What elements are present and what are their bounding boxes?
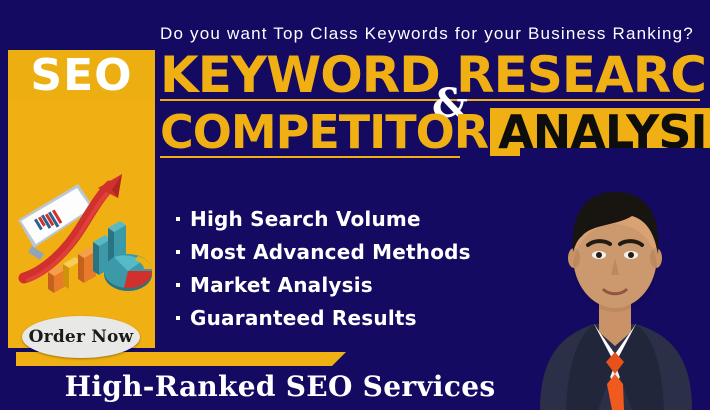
bullet-dot-icon — [176, 316, 180, 320]
list-item: Guaranteed Results — [176, 301, 506, 334]
list-item: Market Analysis — [176, 268, 506, 301]
bullet-dot-icon — [176, 250, 180, 254]
seo-tag-label: SEO — [8, 50, 155, 101]
headline-divider-rule — [160, 99, 700, 101]
feature-label: Guaranteed Results — [190, 306, 417, 330]
feature-list: High Search Volume Most Advanced Methods… — [176, 202, 506, 334]
headline-underline-rule — [160, 156, 460, 158]
list-item: Most Advanced Methods — [176, 235, 506, 268]
feature-label: Market Analysis — [190, 273, 373, 297]
list-item: High Search Volume — [176, 202, 506, 235]
order-now-button[interactable]: Order Now — [22, 316, 140, 358]
feature-label: High Search Volume — [190, 207, 421, 231]
bullet-dot-icon — [176, 217, 180, 221]
order-now-label: Order Now — [29, 327, 134, 347]
tagline-text: Do you want Top Class Keywords for your … — [160, 22, 700, 46]
footer-title: High-Ranked SEO Services — [0, 366, 560, 406]
seo-service-banner: SEO Do you want Top Class Keywords for y… — [0, 0, 710, 410]
seo-growth-chart-illustration — [14, 168, 160, 300]
headline-competitor-label: COMPETITOR — [160, 108, 490, 156]
feature-label: Most Advanced Methods — [190, 240, 471, 264]
bullet-dot-icon — [176, 283, 180, 287]
